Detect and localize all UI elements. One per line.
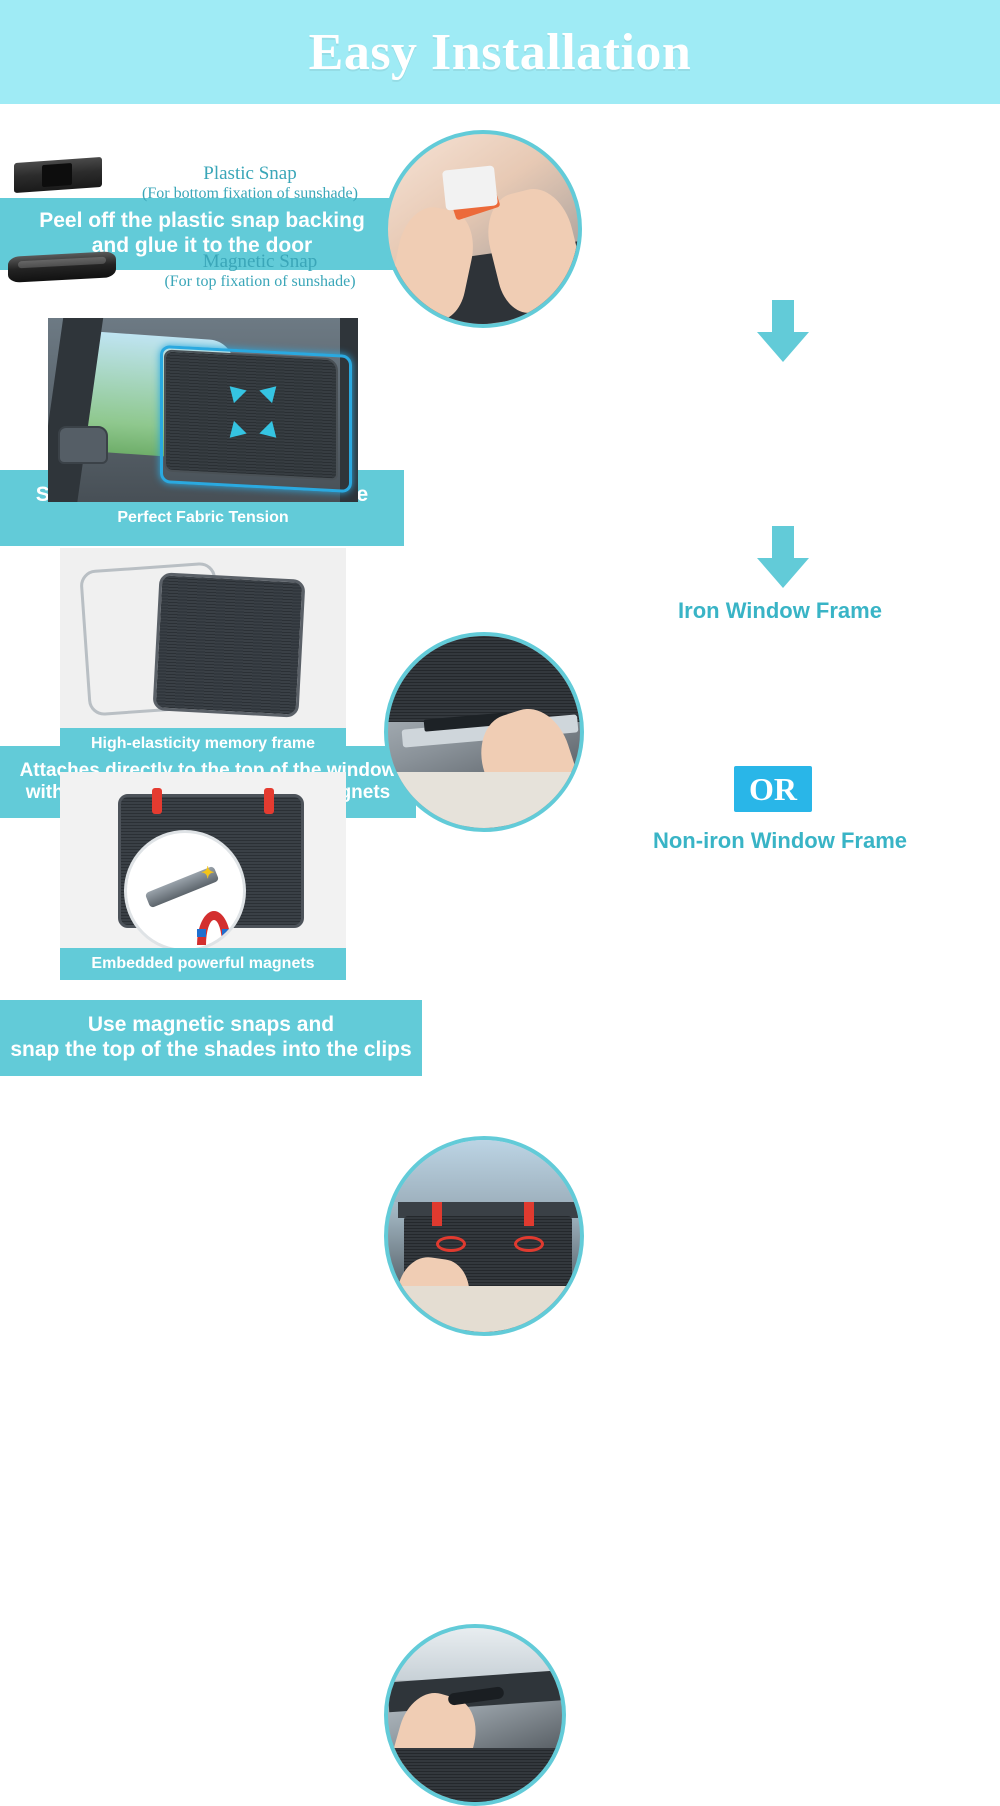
side-mirror <box>58 426 108 464</box>
building-background <box>388 1140 584 1202</box>
step-non-iron-frame-caption-line-2: snap the top of the shades into the clip… <box>10 1038 411 1063</box>
plastic-snap-part-icon <box>14 157 102 193</box>
step-non-iron-frame-title: Non-iron Window Frame <box>572 828 988 854</box>
page-title: Easy Installation <box>309 23 692 82</box>
feature-memory-frame-caption: High-elasticity memory frame <box>60 728 346 760</box>
feature-memory-frame-photo: High-elasticity memory frame <box>60 548 346 760</box>
door-trim <box>388 1286 584 1332</box>
magnet-ring-left <box>436 1236 466 1252</box>
magnet-marker-right <box>524 1202 534 1226</box>
magnetic-snap-part-icon <box>8 251 116 283</box>
step-iron-frame-title: Iron Window Frame <box>578 598 982 624</box>
magnet-marker-left <box>432 1202 442 1226</box>
step-non-iron-frame-caption-line-1: Use magnetic snaps and <box>10 1013 411 1038</box>
plastic-snap-label: Plastic Snap (For bottom fixation of sun… <box>100 163 400 203</box>
magnet-ring-right <box>514 1236 544 1252</box>
or-badge: OR <box>734 766 812 812</box>
step-snap-bottom-photo <box>384 632 584 832</box>
magnetic-snap-name: Magnetic Snap <box>110 251 410 273</box>
feature-magnets-caption: Embedded powerful magnets <box>60 948 346 980</box>
sunshade-panel <box>152 572 305 717</box>
sunshade-bottom-edge <box>388 636 584 722</box>
step-iron-frame-photo <box>384 1136 584 1336</box>
magnetic-snap-desc: (For top fixation of sunshade) <box>110 273 410 291</box>
step-peel-photo <box>384 130 582 328</box>
white-release-liner <box>442 165 498 210</box>
step-non-iron-frame-photo <box>384 1624 566 1806</box>
plastic-snap-desc: (For bottom fixation of sunshade) <box>100 185 400 203</box>
plastic-snap-name: Plastic Snap <box>100 163 400 185</box>
door-trim <box>388 772 584 828</box>
feature-tension-caption: Perfect Fabric Tension <box>48 502 358 534</box>
sunshade-mesh <box>388 1748 566 1802</box>
step-peel-caption-line-1: Peel off the plastic snap backing <box>39 209 365 234</box>
feature-magnets-photo: ✦ Embedded powerful magnets <box>60 772 346 980</box>
spark-icon: ✦ <box>201 863 214 883</box>
magnet-marker-left <box>152 788 162 814</box>
step-non-iron-frame-caption: Use magnetic snaps and snap the top of t… <box>0 1000 422 1076</box>
magnet-icon <box>197 911 231 933</box>
page-header: Easy Installation <box>0 0 1000 104</box>
expand-arrows-icon <box>220 384 286 440</box>
feature-tension-photo: Perfect Fabric Tension <box>48 318 358 534</box>
magnetic-snap-label: Magnetic Snap (For top fixation of sunsh… <box>110 251 410 291</box>
or-badge-label: OR <box>749 771 797 808</box>
magnet-closeup-callout: ✦ <box>124 830 246 952</box>
magnet-marker-right <box>264 788 274 814</box>
